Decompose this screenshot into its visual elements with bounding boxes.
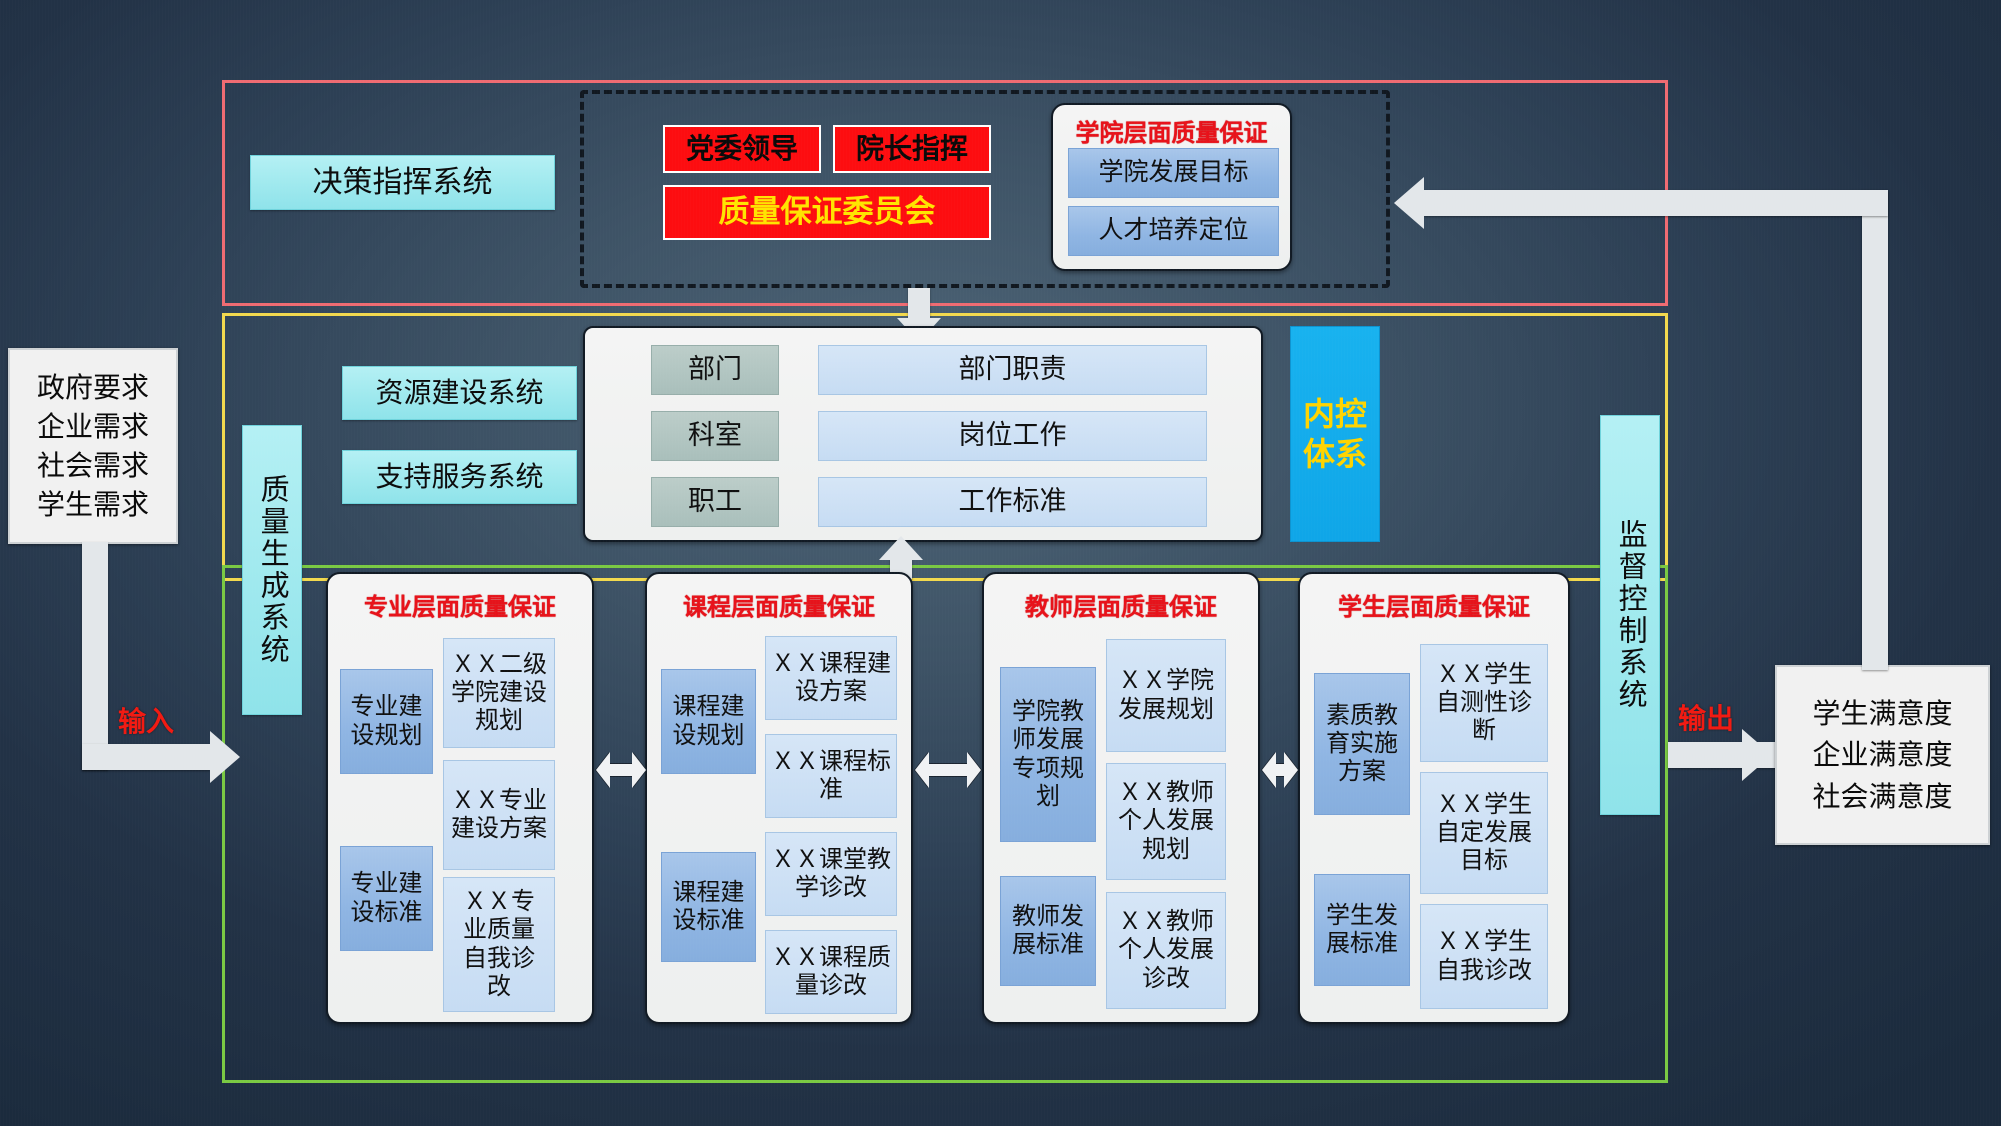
assurance-panel-student-title: 学生层面质量保证 [1300,587,1568,622]
assurance-panel-major: 专业层面质量保证 专业建 设规划 专业建 设标准 ＸＸ二级 学院建设 规划 ＸＸ… [326,572,594,1024]
teacher-dev-plan-line-0: 学院教 [1012,698,1084,726]
input-arrow-horizontal [82,744,210,770]
major-item-construction-plan: ＸＸ专业 建设方案 [443,760,555,870]
connector-teacher-student-head-left [1262,752,1276,788]
student-item-self-set-goal: ＸＸ学生 自定发展 目标 [1420,772,1548,894]
teacher-dev-plan-line-1: 师发展 [1012,726,1084,754]
major-item-2-line-3: 改 [487,973,511,1001]
course-item-3-line-0: ＸＸ课程质 [771,944,891,972]
leadership-party-label: 党委领导 [686,132,798,165]
decision-to-resource-arrow-shaft [908,288,930,318]
course-standard-box: 课程建 设标准 [661,852,756,962]
feedback-arrow-horizontal [1424,190,1888,216]
student-item-self-test-diagnosis: ＸＸ学生 自测性诊 断 [1420,644,1548,762]
major-plan-line-0: 专业建 [351,693,423,721]
org-duty-standard-label: 工作标准 [959,486,1067,518]
student-item-1-line-1: 自定发展 [1436,819,1532,847]
course-item-quality-diagnosis: ＸＸ课程质 量诊改 [765,930,897,1014]
course-item-0-line-0: ＸＸ课程建 [771,650,891,678]
talent-training-position-label: 人才培养定位 [1098,216,1248,246]
input-arrow-vertical [82,542,108,770]
connector-teacher-student [1262,752,1298,788]
input-label: 输入 [118,700,174,740]
connector-major-course-bar [609,763,633,777]
talent-training-position-box: 人才培养定位 [1068,206,1279,256]
organization-responsibility-card: 部门 科室 职工 部门职责 岗位工作 工作标准 [583,326,1263,542]
student-quality-education-line-0: 素质教 [1326,702,1398,730]
connector-major-course-head-right [632,752,646,788]
teacher-item-2-line-0: ＸＸ教师 [1118,908,1214,936]
teacher-dev-plan-line-2: 专项规 [1012,755,1084,783]
student-quality-education-line-1: 育实施 [1326,730,1398,758]
major-item-2-line-2: 自我诊 [463,945,535,973]
course-item-0-line-1: 设方案 [795,678,867,706]
teacher-item-0-line-1: 发展规划 [1118,696,1214,724]
teacher-dev-plan-line-3: 划 [1036,783,1060,811]
student-dev-standard-box: 学生发 展标准 [1314,874,1410,986]
teacher-item-1-line-1: 个人发展 [1118,807,1214,835]
college-development-goal-label: 学院发展目标 [1098,158,1248,188]
input-requirements-box: 政府要求 企业需求 社会需求 学生需求 [8,348,178,544]
leadership-president-label: 院长指挥 [856,132,968,165]
feedback-arrow-head [1394,177,1424,229]
support-service-system-box: 支持服务系统 [342,450,577,504]
course-item-standard: ＸＸ课程标 准 [765,734,897,818]
course-item-2-line-1: 学诊改 [795,874,867,902]
student-item-0-line-0: ＸＸ学生 [1436,661,1532,689]
course-item-construction-plan: ＸＸ课程建 设方案 [765,636,897,720]
diagram-canvas: 政府要求 企业需求 社会需求 学生需求 输入 质量生成系统 决策指挥系统 党委领… [0,0,2001,1126]
major-item-2-line-1: 业质量 [463,916,535,944]
college-level-assurance-title: 学院层面质量保证 [1053,113,1290,148]
student-dev-standard-line-1: 展标准 [1326,930,1398,958]
supervision-control-system-label: 监督控制系统 [1613,519,1647,711]
assurance-panel-course: 课程层面质量保证 课程建 设规划 课程建 设标准 ＸＸ课程建 设方案 ＸＸ课程标… [645,572,913,1024]
input-line-0: 政府要求 [37,371,149,404]
resource-construction-system-label: 资源建设系统 [375,376,543,409]
connector-course-teacher-head-left [915,752,929,788]
teacher-dev-standard-line-1: 展标准 [1012,931,1084,959]
connector-teacher-student-head-right [1284,752,1298,788]
assurance-panel-major-title: 专业层面质量保证 [328,587,592,622]
major-plan-line-1: 设规划 [351,722,423,750]
assurance-panel-teacher: 教师层面质量保证 学院教 师发展 专项规 划 教师发 展标准 ＸＸ学院 发展规划… [982,572,1260,1024]
internal-control-line-1: 体系 [1303,434,1367,474]
connector-course-teacher-head-right [967,752,981,788]
decision-command-system-label: 决策指挥系统 [313,165,493,200]
input-line-3: 学生需求 [37,488,149,521]
org-duty-post-box: 岗位工作 [818,411,1207,461]
assurance-panel-teacher-title: 教师层面质量保证 [984,587,1258,622]
assurance-to-org-arrow-head [879,536,923,560]
student-item-1-line-2: 目标 [1460,847,1508,875]
org-unit-section-box: 科室 [651,411,779,461]
org-duty-department-label: 部门职责 [959,354,1067,386]
supervision-control-system-bar: 监督控制系统 [1600,415,1660,815]
output-line-1: 企业满意度 [1812,738,1952,771]
org-unit-department-box: 部门 [651,345,779,395]
major-item-0-line-1: 学院建设 [451,679,547,707]
teacher-dev-plan-box: 学院教 师发展 专项规 划 [1000,667,1096,842]
student-quality-education-line-2: 方案 [1338,758,1386,786]
org-duty-standard-box: 工作标准 [818,477,1207,527]
input-line-2: 社会需求 [37,449,149,482]
internal-control-system-box: 内控 体系 [1290,326,1380,542]
course-item-1-line-1: 准 [819,776,843,804]
org-unit-staff-box: 职工 [651,477,779,527]
course-standard-line-0: 课程建 [673,879,745,907]
course-item-1-line-0: ＸＸ课程标 [771,748,891,776]
course-plan-line-1: 设规划 [673,722,745,750]
course-plan-box: 课程建 设规划 [661,669,756,774]
student-item-1-line-0: ＸＸ学生 [1436,791,1532,819]
output-label: 输出 [1678,697,1734,737]
input-line-1: 企业需求 [37,410,149,443]
student-item-0-line-1: 自测性诊 [1436,689,1532,717]
org-unit-section-label: 科室 [688,420,742,452]
student-item-self-diagnosis: ＸＸ学生 自我诊改 [1420,904,1548,1009]
org-unit-department-label: 部门 [688,354,742,386]
quality-assurance-committee-label: 质量保证委员会 [719,194,936,231]
course-item-classroom-diagnosis: ＸＸ课堂教 学诊改 [765,832,897,916]
major-item-1-line-1: 建设方案 [451,815,547,843]
student-item-2-line-0: ＸＸ学生 [1436,928,1532,956]
support-service-system-label: 支持服务系统 [375,460,543,493]
teacher-item-2-line-2: 诊改 [1142,965,1190,993]
connector-course-teacher-bar [928,763,968,777]
teacher-dev-standard-box: 教师发 展标准 [1000,876,1096,986]
output-satisfaction-box: 学生满意度 企业满意度 社会满意度 [1775,665,1990,845]
leadership-party-box: 党委领导 [663,125,821,173]
org-duty-department-box: 部门职责 [818,345,1207,395]
teacher-item-personal-dev-plan: ＸＸ教师 个人发展 规划 [1106,763,1226,880]
teacher-item-1-line-2: 规划 [1142,836,1190,864]
major-item-2-line-0: ＸＸ专 [463,888,535,916]
resource-construction-system-box: 资源建设系统 [342,366,577,420]
teacher-dev-standard-line-0: 教师发 [1012,903,1084,931]
major-item-1-line-0: ＸＸ专业 [451,787,547,815]
quality-generation-system-bar: 质量生成系统 [242,425,302,715]
teacher-item-college-dev-plan: ＸＸ学院 发展规划 [1106,639,1226,752]
course-item-3-line-1: 量诊改 [795,972,867,1000]
college-development-goal-box: 学院发展目标 [1068,148,1279,198]
org-unit-staff-label: 职工 [688,486,742,518]
decision-command-system-box: 决策指挥系统 [250,155,555,210]
course-plan-line-0: 课程建 [673,693,745,721]
output-line-0: 学生满意度 [1812,697,1952,730]
leadership-president-box: 院长指挥 [833,125,991,173]
student-dev-standard-line-0: 学生发 [1326,902,1398,930]
major-standard-line-1: 设标准 [351,899,423,927]
major-item-0-line-2: 规划 [475,707,523,735]
connector-major-course [596,752,646,788]
major-item-0-line-0: ＸＸ二级 [451,651,547,679]
connector-major-course-head-left [596,752,610,788]
student-item-2-line-1: 自我诊改 [1436,957,1532,985]
quality-assurance-committee-box: 质量保证委员会 [663,185,991,240]
assurance-panel-course-title: 课程层面质量保证 [647,587,911,622]
major-item-secondary-college-plan: ＸＸ二级 学院建设 规划 [443,638,555,748]
feedback-arrow-vertical [1862,190,1888,670]
student-item-0-line-2: 断 [1472,717,1496,745]
major-standard-line-0: 专业建 [351,870,423,898]
assurance-panel-student: 学生层面质量保证 素质教 育实施 方案 学生发 展标准 ＸＸ学生 自测性诊 断 … [1298,572,1570,1024]
output-line-2: 社会满意度 [1812,780,1952,813]
teacher-item-1-line-0: ＸＸ教师 [1118,779,1214,807]
course-standard-line-1: 设标准 [673,907,745,935]
teacher-item-0-line-0: ＸＸ学院 [1118,667,1214,695]
student-quality-education-box: 素质教 育实施 方案 [1314,673,1410,815]
output-arrow-head [1742,729,1772,781]
internal-control-line-0: 内控 [1303,394,1367,434]
quality-generation-system-label: 质量生成系统 [255,474,289,666]
connector-course-teacher [915,752,981,788]
course-item-2-line-0: ＸＸ课堂教 [771,846,891,874]
college-level-assurance-card: 学院层面质量保证 学院发展目标 人才培养定位 [1051,103,1292,271]
teacher-item-personal-dev-diagnosis: ＸＸ教师 个人发展 诊改 [1106,892,1226,1009]
major-item-self-diagnosis: ＸＸ专 业质量 自我诊 改 [443,877,555,1012]
major-standard-box: 专业建 设标准 [340,846,433,951]
org-duty-post-label: 岗位工作 [959,420,1067,452]
teacher-item-2-line-1: 个人发展 [1118,936,1214,964]
input-arrow-head [210,731,240,783]
major-plan-box: 专业建 设规划 [340,669,433,774]
